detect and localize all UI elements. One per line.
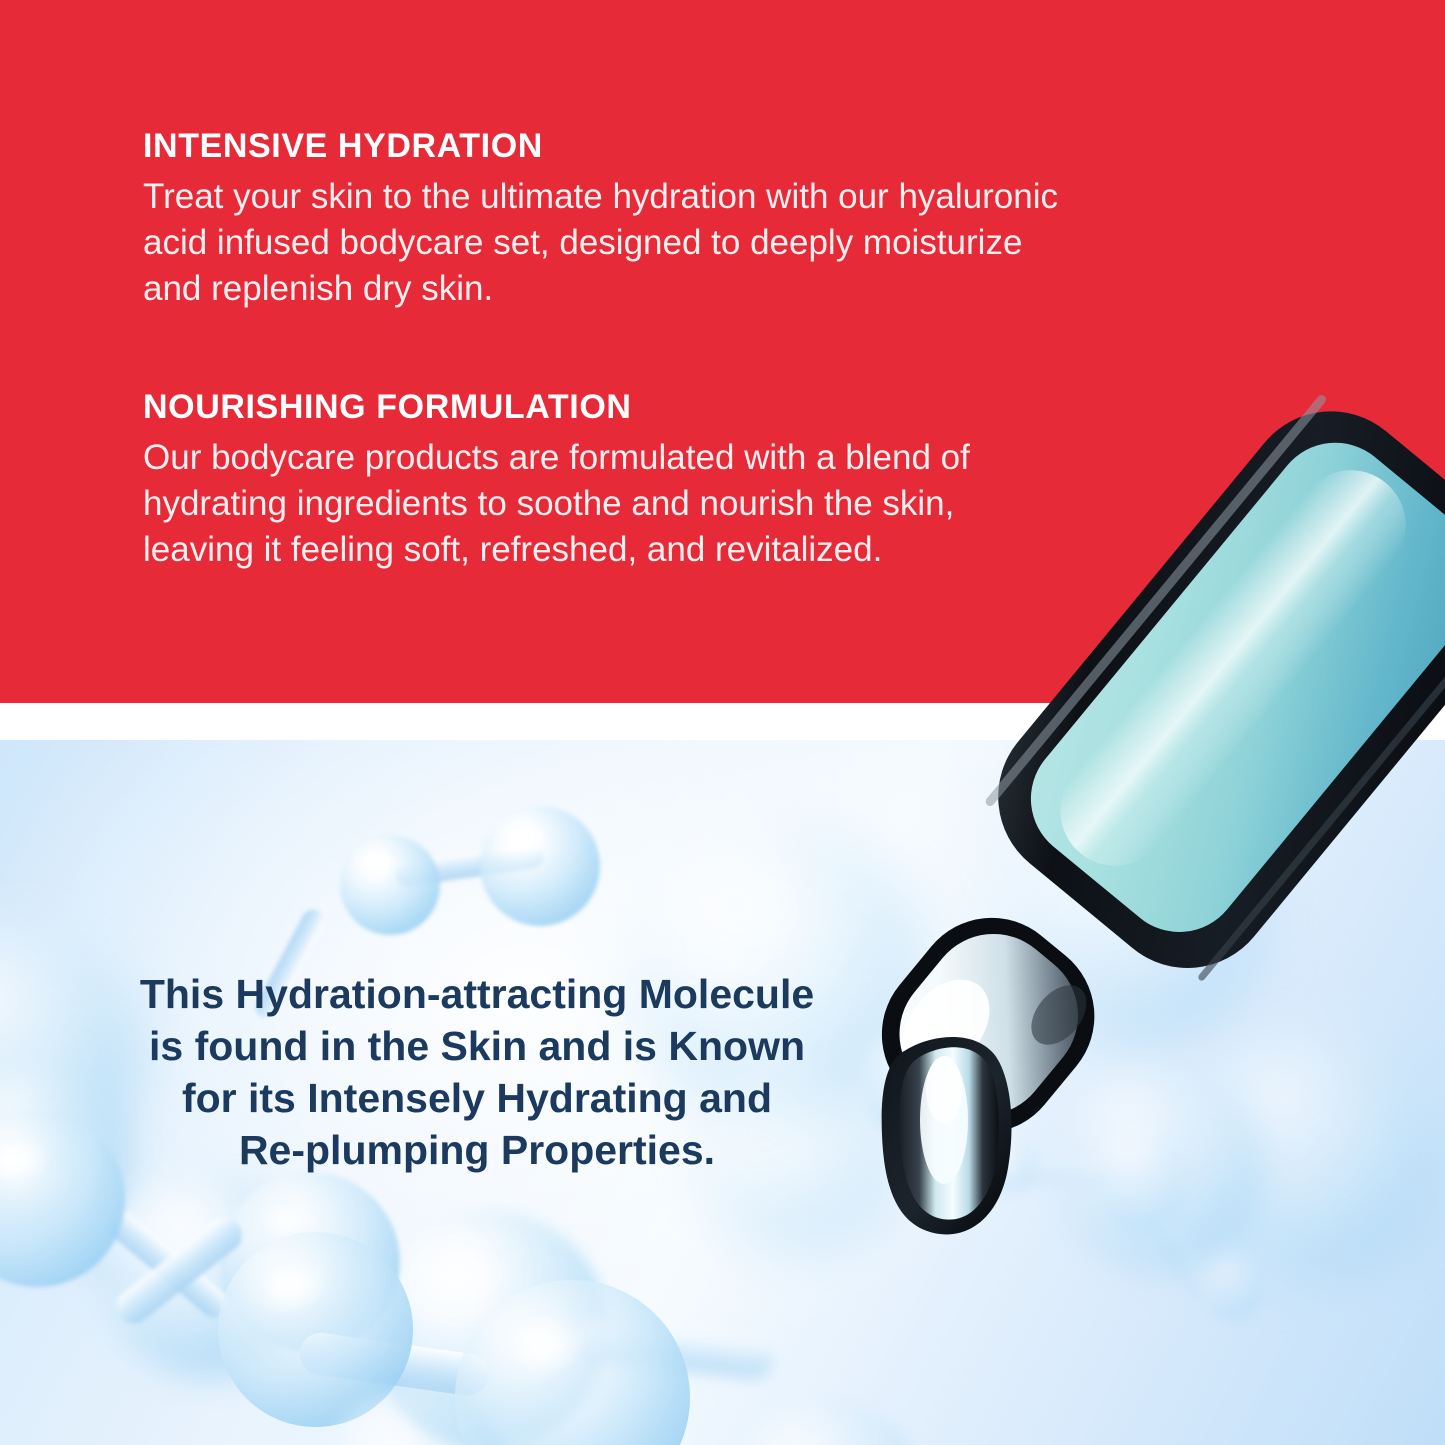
claim-line-1-bold: Hydration-attracting Molecule <box>236 971 815 1017</box>
feature-body: Treat your skin to the ultimate hydratio… <box>143 174 1283 312</box>
claim-line-4: Re-plumping Properties. <box>92 1124 862 1176</box>
molecule-bond <box>893 1123 988 1211</box>
feature-body: Our bodycare products are formulated wit… <box>143 435 1283 573</box>
molecule-claim-text: This Hydration-attracting Molecule is fo… <box>92 968 862 1176</box>
feature-block-nourishing-formulation: NOURISHING FORMULATION Our bodycare prod… <box>143 387 1303 573</box>
claim-line-2: is found in the Skin and is Known <box>92 1020 862 1072</box>
feature-block-intensive-hydration: INTENSIVE HYDRATION Treat your skin to t… <box>143 126 1303 312</box>
claim-line-3: for its Intensely Hydrating and <box>92 1072 862 1124</box>
feature-body-line: and replenish dry skin. <box>143 266 1283 312</box>
molecule-sphere <box>480 806 600 926</box>
feature-body-line: acid infused bodycare set, designed to d… <box>143 220 1283 266</box>
molecule-sphere <box>1202 1248 1264 1320</box>
feature-body-line: hydrating ingredients to soothe and nour… <box>143 481 1283 527</box>
molecule-sphere <box>1010 788 1270 1048</box>
claim-line-1: This Hydration-attracting Molecule <box>92 968 862 1020</box>
molecule-sphere <box>340 835 440 935</box>
feature-heading: INTENSIVE HYDRATION <box>143 126 1303 166</box>
molecule-sphere <box>862 1028 948 1136</box>
blue-molecule-panel: This Hydration-attracting Molecule is fo… <box>0 740 1445 1445</box>
feature-body-line: Our bodycare products are formulated wit… <box>143 435 1283 481</box>
feature-body-line: leaving it feeling soft, refreshed, and … <box>143 527 1283 573</box>
molecule-sphere <box>726 1400 926 1445</box>
product-infographic-page: INTENSIVE HYDRATION Treat your skin to t… <box>0 0 1445 1445</box>
claim-line-1-prefix: This <box>140 971 236 1017</box>
molecule-sphere <box>1055 1062 1265 1272</box>
feature-body-line: Treat your skin to the ultimate hydratio… <box>143 174 1283 220</box>
red-benefits-panel: INTENSIVE HYDRATION Treat your skin to t… <box>0 0 1445 703</box>
panel-separator <box>0 703 1445 740</box>
feature-heading: NOURISHING FORMULATION <box>143 387 1303 427</box>
